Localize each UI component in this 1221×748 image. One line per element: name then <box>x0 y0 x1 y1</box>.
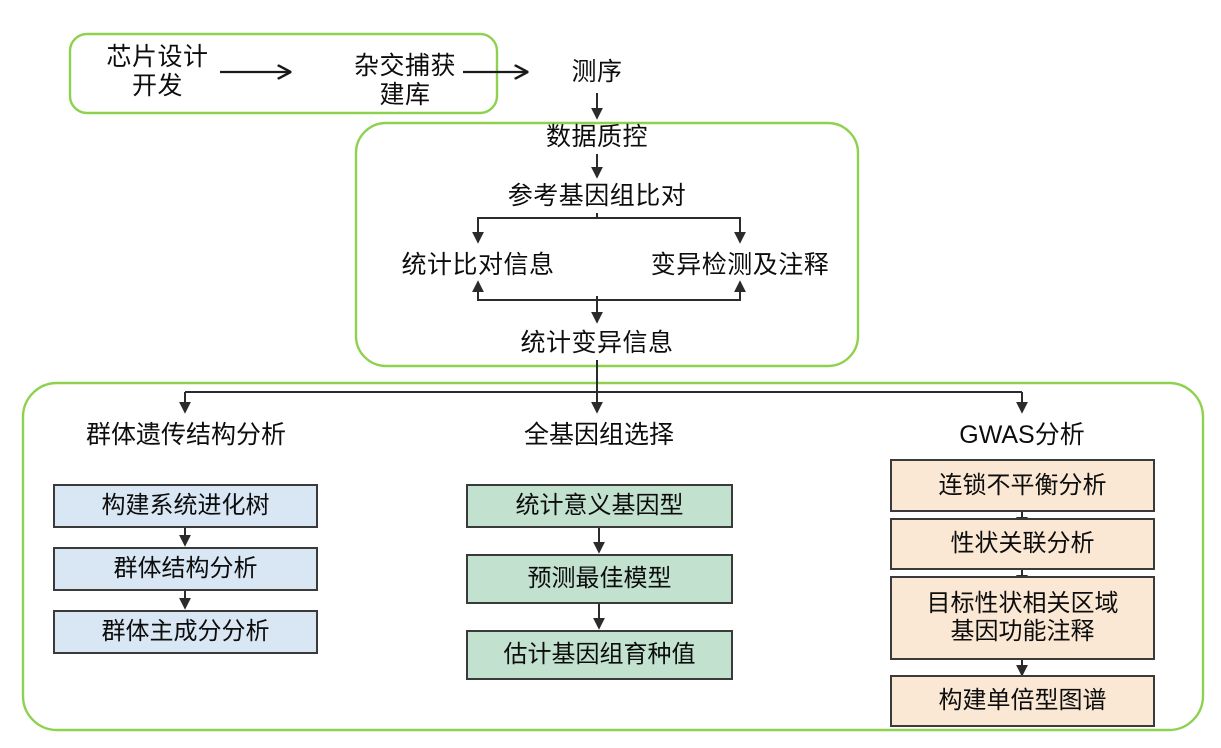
node-alignment-stats: 统计比对信息 <box>373 248 583 282</box>
branch-align-to-variant <box>597 213 740 242</box>
column-title-genomic-selection-label: 全基因组选择 <box>524 421 674 450</box>
box-best-model-prediction[interactable]: 预测最佳模型 <box>466 554 733 604</box>
column-title-population-genetics-label: 群体遗传结构分析 <box>86 421 286 450</box>
box-trait-association-label: 性状关联分析 <box>951 530 1095 558</box>
branch-varstats-to-variant <box>597 282 740 309</box>
box-population-structure[interactable]: 群体结构分析 <box>53 547 318 591</box>
column-title-genomic-selection: 全基因组选择 <box>468 418 730 452</box>
branch-align-to-stats <box>478 213 597 242</box>
column-title-gwas: GWAS分析 <box>891 418 1153 452</box>
node-hybrid-capture-library: 杂交捕获 建库 <box>345 50 465 112</box>
node-data-qc-label: 数据质控 <box>546 123 648 152</box>
box-target-region-annotation-label: 目标性状相关区域 基因功能注释 <box>927 590 1119 645</box>
box-linkage-disequilibrium[interactable]: 连锁不平衡分析 <box>890 459 1155 512</box>
box-phylogenetic-tree-label: 构建系统进化树 <box>102 492 270 520</box>
column-title-population-genetics: 群体遗传结构分析 <box>55 418 317 452</box>
node-reference-alignment-label: 参考基因组比对 <box>508 182 687 211</box>
box-linkage-disequilibrium-label: 连锁不平衡分析 <box>939 472 1107 500</box>
flowchart-canvas: 芯片设计开发 杂交捕获 建库 测序 数据质控 参考基因组比对 统计比对信息 变异… <box>0 0 1221 748</box>
box-haplotype-map-label: 构建单倍型图谱 <box>939 687 1107 715</box>
node-variant-stats-label: 统计变异信息 <box>520 329 673 358</box>
node-variant-stats: 统计变异信息 <box>492 326 702 360</box>
box-trait-association[interactable]: 性状关联分析 <box>890 518 1155 570</box>
box-significant-genotype[interactable]: 统计意义基因型 <box>466 484 733 528</box>
node-chip-design: 芯片设计开发 <box>95 55 220 89</box>
box-significant-genotype-label: 统计意义基因型 <box>516 492 684 520</box>
node-variant-calling-annotation: 变异检测及注释 <box>635 248 845 282</box>
node-hybrid-capture-library-label: 杂交捕获 建库 <box>354 52 456 110</box>
node-chip-design-label: 芯片设计开发 <box>95 43 220 101</box>
box-population-structure-label: 群体结构分析 <box>114 555 258 583</box>
node-sequencing: 测序 <box>546 55 648 89</box>
node-alignment-stats-label: 统计比对信息 <box>401 251 554 280</box>
column-title-gwas-label: GWAS分析 <box>959 421 1084 450</box>
box-genomic-breeding-value[interactable]: 估计基因组育种值 <box>466 630 733 680</box>
box-genomic-breeding-value-label: 估计基因组育种值 <box>504 641 696 669</box>
node-reference-alignment: 参考基因组比对 <box>492 179 702 213</box>
branch-varstats-to-stats <box>478 282 597 309</box>
box-haplotype-map[interactable]: 构建单倍型图谱 <box>890 675 1155 727</box>
box-phylogenetic-tree[interactable]: 构建系统进化树 <box>53 484 318 528</box>
box-population-pca[interactable]: 群体主成分分析 <box>53 610 318 654</box>
node-sequencing-label: 测序 <box>571 58 622 87</box>
node-variant-calling-annotation-label: 变异检测及注释 <box>651 251 830 280</box>
node-data-qc: 数据质控 <box>521 120 673 154</box>
box-best-model-prediction-label: 预测最佳模型 <box>528 565 672 593</box>
box-population-pca-label: 群体主成分分析 <box>102 618 270 646</box>
box-target-region-annotation[interactable]: 目标性状相关区域 基因功能注释 <box>890 576 1155 660</box>
